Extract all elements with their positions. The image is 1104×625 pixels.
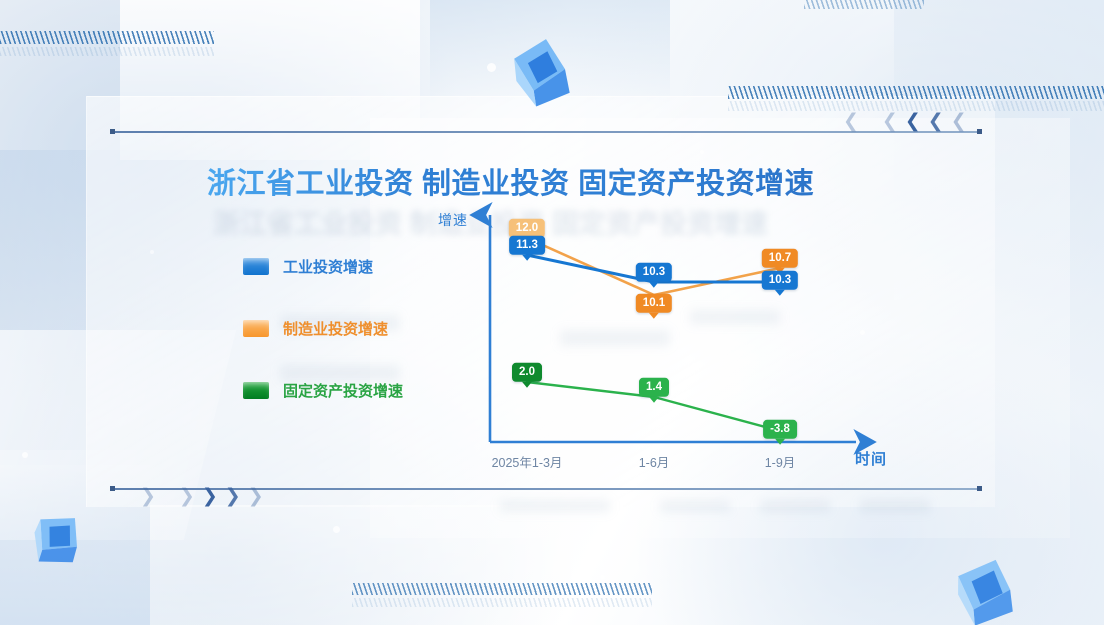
legend-swatch-manufacturing bbox=[243, 320, 269, 337]
chevron-right-decor: ❯ ❯ ❯ ❯ ❯ bbox=[140, 487, 264, 506]
hatch-band-bottom-shadow bbox=[352, 598, 652, 607]
chevron-right-icon: ❯ bbox=[225, 487, 241, 506]
data-label-industrial: 10.3 bbox=[762, 271, 798, 290]
legend-item[interactable]: 工业投资增速 bbox=[243, 255, 403, 277]
cube-decor-bottomright bbox=[948, 554, 1030, 625]
divider-cap-topleft bbox=[110, 129, 115, 134]
data-label-fixedasset: 1.4 bbox=[639, 378, 669, 397]
ghost-block bbox=[660, 500, 730, 512]
divider-cap-bottomright bbox=[977, 486, 982, 491]
chevron-right-icon: ❯ bbox=[179, 487, 195, 506]
hatch-band-topright bbox=[728, 86, 1104, 99]
legend-swatch-industrial bbox=[243, 258, 269, 275]
chevron-left-icon: ❮ bbox=[928, 112, 944, 131]
infographic-stage: ❮ ❮ ❮ ❮ ❮ ❯ ❯ ❯ ❯ ❯ 浙江省工业投资 制造业投资 固定资产投资… bbox=[0, 0, 1104, 625]
data-label-fixedasset: -3.8 bbox=[763, 420, 797, 439]
particle-dot bbox=[860, 330, 865, 335]
data-label-manufacturing: 10.1 bbox=[636, 294, 672, 313]
page-title: 浙江省工业投资 制造业投资 固定资产投资增速 bbox=[207, 160, 907, 202]
legend-label: 固定资产投资增速 bbox=[283, 380, 403, 401]
chevron-left-decor: ❮ ❮ ❮ ❮ ❮ bbox=[843, 112, 967, 131]
hatch-band-topedge bbox=[804, 0, 924, 9]
line-chart: 增速 时间 12.0 10.1 10.7 bbox=[430, 200, 910, 475]
hatch-band-topleft bbox=[0, 31, 214, 44]
chevron-left-icon: ❮ bbox=[882, 112, 898, 131]
legend-label: 工业投资增速 bbox=[283, 256, 373, 277]
particle-dot bbox=[487, 63, 496, 72]
chevron-left-icon: ❮ bbox=[843, 112, 859, 131]
legend-item[interactable]: 固定资产投资增速 bbox=[243, 379, 403, 401]
particle-dot bbox=[22, 452, 28, 458]
x-tick-label: 1-6月 bbox=[639, 452, 670, 471]
divider-cap-topright bbox=[977, 129, 982, 134]
hatch-band-topright-shadow bbox=[728, 101, 1104, 111]
particle-dot bbox=[700, 150, 704, 154]
legend-label: 制造业投资增速 bbox=[283, 318, 388, 339]
data-label-industrial: 11.3 bbox=[509, 236, 545, 255]
chevron-left-icon: ❮ bbox=[905, 112, 921, 131]
data-label-industrial: 10.3 bbox=[636, 263, 672, 282]
cube-decor-top bbox=[504, 30, 576, 108]
x-tick-label: 1-9月 bbox=[765, 452, 796, 471]
data-label-fixedasset: 2.0 bbox=[512, 363, 542, 382]
particle-dot bbox=[333, 526, 340, 533]
ghost-block bbox=[760, 500, 830, 512]
chevron-right-icon: ❯ bbox=[202, 487, 218, 506]
particle-dot bbox=[150, 250, 154, 254]
cube-decor-bottomleft bbox=[30, 508, 86, 568]
legend-item[interactable]: 制造业投资增速 bbox=[243, 317, 403, 339]
hatch-band-topleft-shadow bbox=[0, 47, 214, 56]
data-label-manufacturing: 10.7 bbox=[762, 249, 798, 268]
x-tick-label: 2025年1-3月 bbox=[492, 452, 563, 471]
chart-canvas bbox=[430, 200, 910, 475]
particle-dot bbox=[600, 575, 605, 580]
ghost-block bbox=[860, 500, 930, 512]
divider-cap-bottomleft bbox=[110, 486, 115, 491]
hatch-band-bottom bbox=[352, 583, 652, 595]
legend-swatch-fixedasset bbox=[243, 382, 269, 399]
chart-legend: 工业投资增速 制造业投资增速 固定资产投资增速 bbox=[243, 255, 403, 441]
ghost-block bbox=[500, 500, 610, 512]
chevron-left-icon: ❮ bbox=[951, 112, 967, 131]
chevron-right-icon: ❯ bbox=[248, 487, 264, 506]
chevron-right-icon: ❯ bbox=[140, 487, 156, 506]
